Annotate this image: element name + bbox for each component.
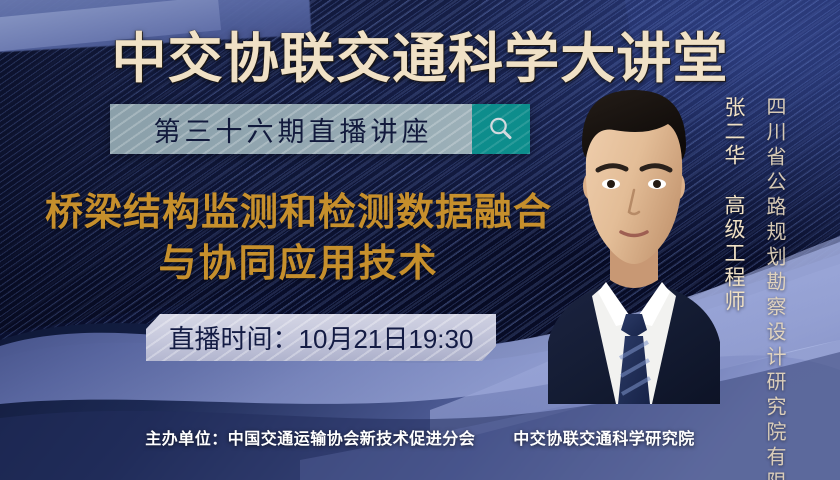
speaker-portrait [536,74,732,404]
organizer-prefix: 主办单位：中国交通运输协会新技术促进分会 [145,431,475,448]
search-icon [486,114,516,144]
lecture-title-line-2: 与协同应用技术 [36,239,561,290]
organizer-suffix: 中交协联交通科学研究院 [513,431,695,448]
episode-label: 第三十六期直播讲座 [150,110,433,149]
lecture-title: 桥梁结构监测和检测数据融合 与协同应用技术 [36,188,561,290]
lecture-promo-poster: 中交协联交通科学大讲堂 第三十六期直播讲座 桥梁结构监测和检测数据融合 与协同应… [0,0,840,480]
broadcast-time-plaque: 直播时间：10月21日19:30 [146,314,496,361]
search-button[interactable] [472,104,530,154]
episode-banner: 第三十六期直播讲座 [110,104,530,154]
broadcast-time-text: 直播时间：10月21日19:30 [169,319,474,356]
organizer-footer: 主办单位：中国交通运输协会新技术促进分会 中交协联交通科学研究院 [0,425,840,449]
episode-label-box: 第三十六期直播讲座 [110,104,472,154]
speaker-name: 张二华 高级工程师 [718,96,748,314]
speaker-organization: 四川省公路规划勘察设计研究院有限公司 [760,96,789,480]
lecture-title-line-1: 桥梁结构监测和检测数据融合 [36,188,561,239]
